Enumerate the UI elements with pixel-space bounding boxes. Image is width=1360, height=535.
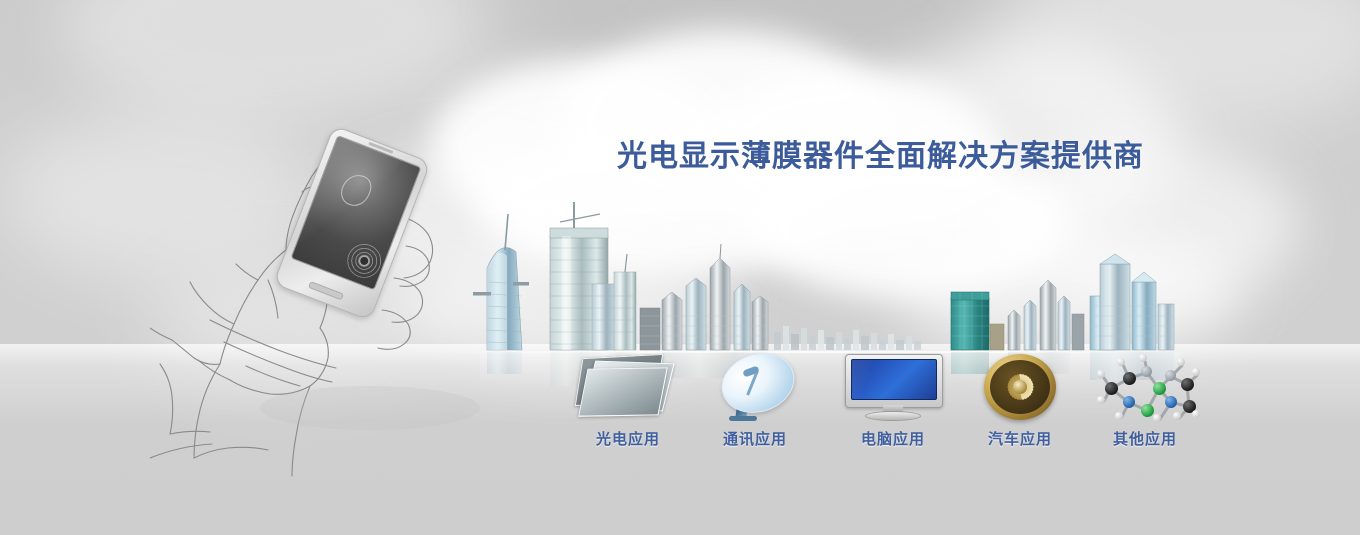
right-blue-towers	[1090, 254, 1174, 350]
right-cluster	[1008, 280, 1084, 350]
application-item-comm[interactable]: 通讯应用	[690, 352, 820, 449]
hero-banner: 光电显示薄膜器件全面解决方案提供商 光电应用 通讯应用	[0, 0, 1360, 535]
application-label: 电脑应用	[828, 428, 958, 449]
screen-dial-graphic	[342, 239, 386, 283]
computer-monitor-icon[interactable]	[828, 352, 958, 422]
application-label: 通讯应用	[690, 428, 820, 449]
application-item-opto[interactable]: 光电应用	[563, 352, 693, 449]
satellite-dish-icon[interactable]	[690, 352, 820, 422]
distant-lowrise	[774, 326, 921, 350]
page-title: 光电显示薄膜器件全面解决方案提供商	[617, 138, 1144, 176]
central-cluster	[640, 244, 768, 350]
application-item-other[interactable]: 其他应用	[1080, 352, 1210, 449]
application-item-computer[interactable]: 电脑应用	[828, 352, 958, 449]
teal-tower	[951, 292, 1004, 350]
application-label: 汽车应用	[955, 428, 1085, 449]
molecule-model-icon[interactable]	[1080, 352, 1210, 422]
application-label: 光电应用	[563, 428, 693, 449]
application-label: 其他应用	[1080, 428, 1210, 449]
application-item-auto[interactable]: 汽车应用	[955, 352, 1085, 449]
glass-film-sheets-icon[interactable]	[563, 352, 693, 422]
application-icon-row: 光电应用 通讯应用	[0, 352, 1360, 462]
car-wheel-rim-icon[interactable]	[955, 352, 1085, 422]
